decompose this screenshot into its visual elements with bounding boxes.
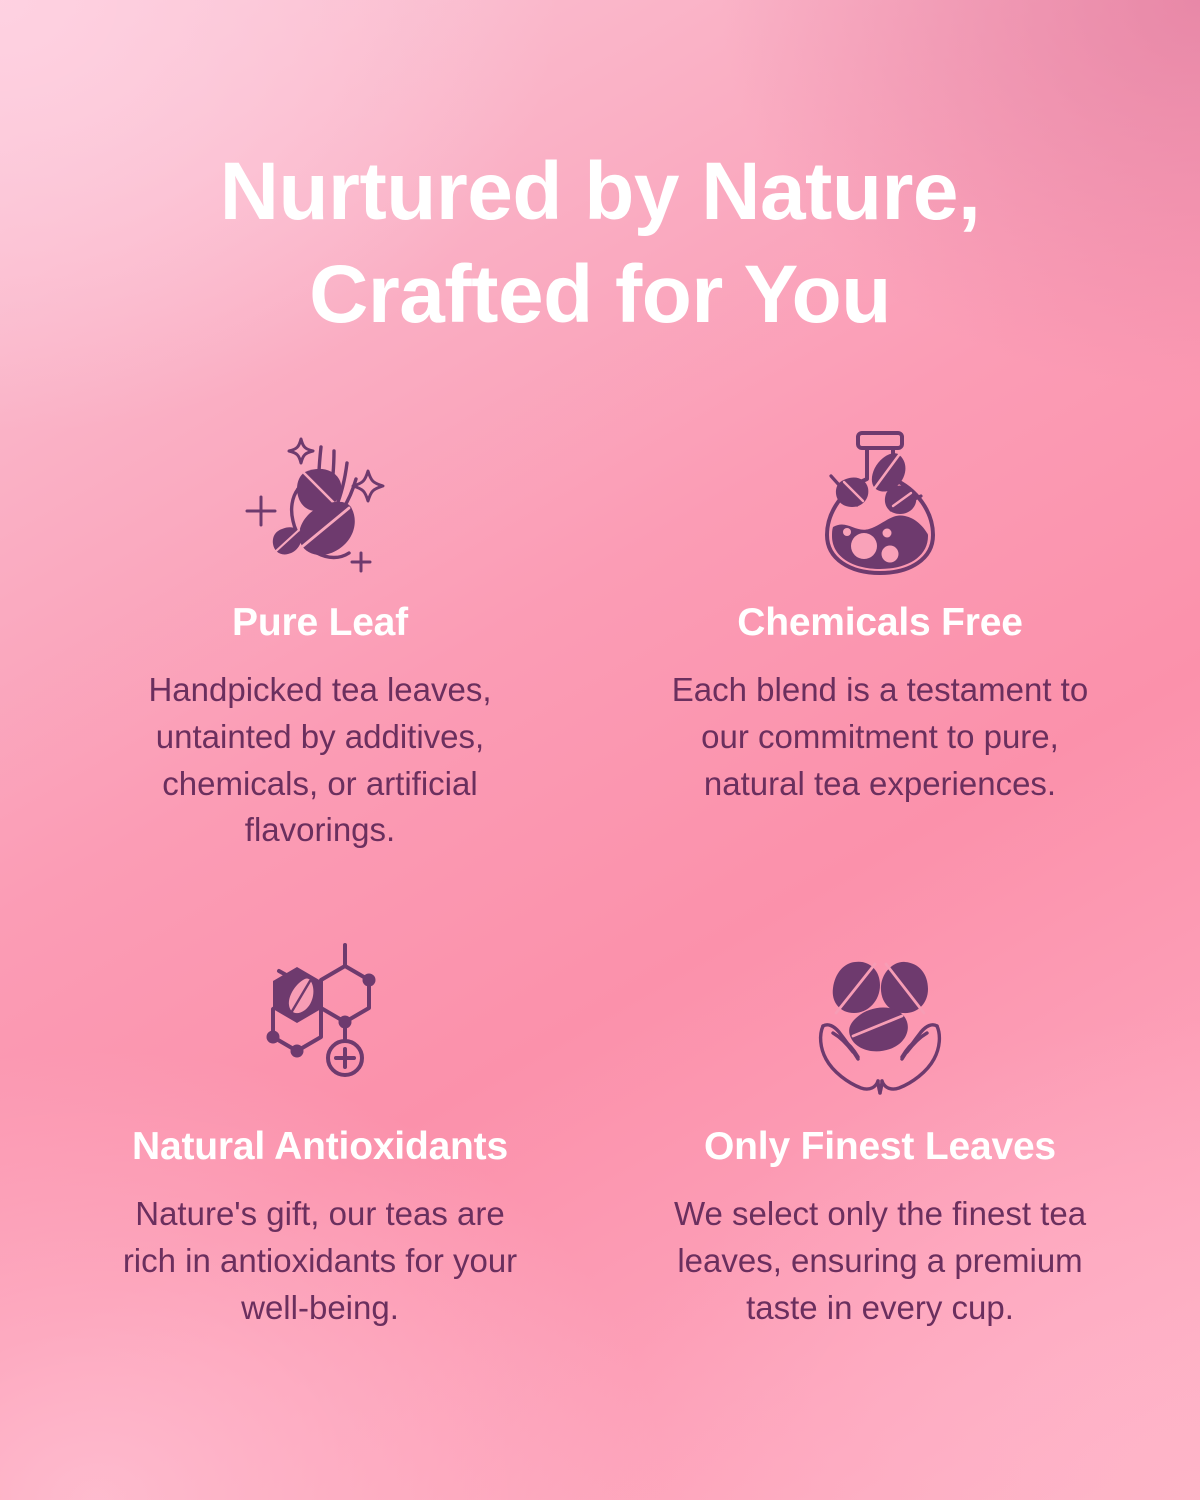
- feature-body: Nature's gift, our teas are rich in anti…: [105, 1191, 535, 1332]
- feature-card-only-finest-leaves: Only Finest Leaves We select only the fi…: [600, 928, 1160, 1331]
- hand-holding-leaves-sparkle-icon: [230, 408, 410, 588]
- features-grid: Pure Leaf Handpicked tea leaves, untaint…: [40, 408, 1160, 1332]
- flask-with-leaves-icon: [790, 408, 970, 588]
- molecule-leaf-plus-icon: [230, 928, 410, 1108]
- feature-title: Chemicals Free: [737, 602, 1023, 645]
- feature-title: Only Finest Leaves: [704, 1126, 1056, 1169]
- feature-title: Natural Antioxidants: [132, 1126, 508, 1169]
- promo-poster: Nurtured by Nature, Crafted for You: [0, 0, 1200, 1500]
- feature-body: We select only the finest tea leaves, en…: [665, 1191, 1095, 1332]
- feature-body: Each blend is a testament to our commitm…: [665, 667, 1095, 808]
- hands-cupping-leaves-icon: [790, 928, 970, 1108]
- page-title-line-1: Nurtured by Nature,: [90, 140, 1110, 243]
- feature-card-chemicals-free: Chemicals Free Each blend is a testament…: [600, 408, 1160, 854]
- feature-body: Handpicked tea leaves, untainted by addi…: [105, 667, 535, 854]
- feature-card-pure-leaf: Pure Leaf Handpicked tea leaves, untaint…: [40, 408, 600, 854]
- page-title-line-2: Crafted for You: [90, 243, 1110, 346]
- feature-title: Pure Leaf: [232, 602, 408, 645]
- page-title: Nurtured by Nature, Crafted for You: [0, 140, 1200, 347]
- feature-card-natural-antioxidants: Natural Antioxidants Nature's gift, our …: [40, 928, 600, 1331]
